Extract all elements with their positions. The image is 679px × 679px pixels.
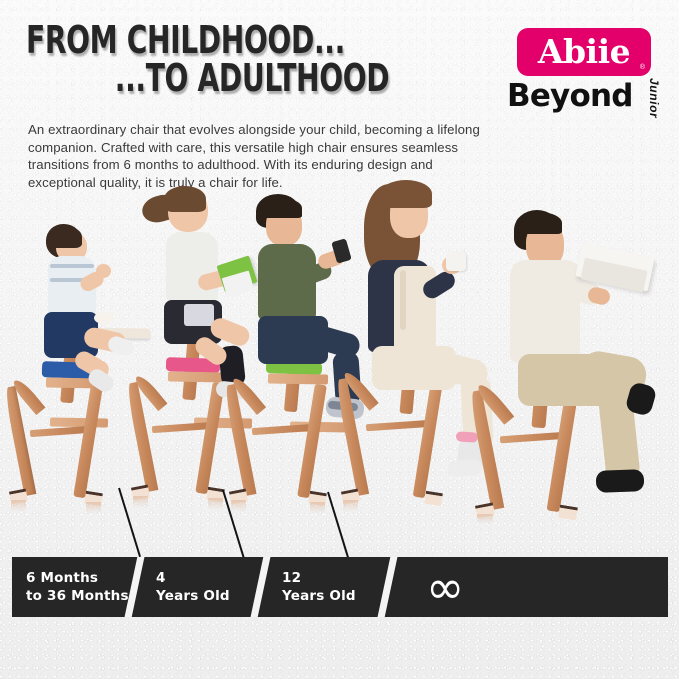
product-tier: Junior — [647, 78, 661, 118]
toddler-shirt-stripe — [50, 264, 94, 268]
chair-rung — [30, 426, 90, 437]
floor-reflection — [86, 502, 101, 514]
chair-back-leg — [73, 386, 102, 498]
chair-foot-back — [424, 491, 443, 506]
infinity-icon: ∞ — [426, 567, 606, 607]
girl-hair — [164, 186, 206, 212]
chair-progression-scene — [0, 190, 679, 520]
floor-reflection — [11, 500, 26, 512]
floor-reflection — [310, 502, 325, 514]
chair-rung — [252, 424, 314, 435]
headline-line-2: ...TO ADULTHOOD — [26, 60, 374, 96]
timeline-segment-3[interactable]: ∞ — [426, 557, 606, 617]
girl-shirt — [166, 232, 218, 302]
brand-logo: Abiie ® Beyond Junior — [499, 28, 667, 128]
headline-line-1: FROM CHILDHOOD... — [26, 22, 374, 58]
floor-reflection — [208, 498, 223, 510]
toddler-hand — [96, 264, 111, 278]
toddler-bowl — [94, 312, 114, 324]
chair-back-leg — [297, 384, 327, 498]
age-timeline-bar: 6 Months to 36 Months 4 Years Old 12 Yea… — [12, 557, 668, 617]
toddler-hair-top — [48, 226, 82, 248]
timeline-segment-2-line2: Years Old — [282, 587, 382, 605]
registered-trademark-icon: ® — [640, 64, 645, 71]
timeline-segment-2[interactable]: 12 Years Old — [282, 557, 382, 617]
boy-hair-top — [258, 198, 302, 218]
chair-back-leg — [195, 382, 224, 494]
man-shoe — [596, 469, 645, 493]
timeline-segment-1-line2: Years Old — [156, 587, 256, 605]
timeline-segment-0[interactable]: 6 Months to 36 Months — [26, 557, 136, 617]
chair-foot-back — [558, 505, 578, 521]
brand-name: Abiie — [538, 35, 630, 68]
floor-reflection — [477, 514, 493, 524]
floor-reflection — [343, 500, 358, 512]
timeline-segment-0-line2: to 36 Months — [26, 587, 136, 605]
headline: FROM CHILDHOOD... ...TO ADULTHOOD — [26, 22, 496, 97]
figure-group-toddler — [8, 190, 148, 510]
product-infographic-poster: FROM CHILDHOOD... ...TO ADULTHOOD An ext… — [0, 0, 679, 679]
timeline-segment-2-line1: 12 — [282, 569, 382, 587]
timeline-segment-1-line1: 4 — [156, 569, 256, 587]
chair-seat — [268, 373, 328, 384]
chair-back-leg — [413, 378, 444, 498]
man-hair-top — [516, 212, 562, 234]
timeline-segment-0-line1: 6 Months — [26, 569, 136, 587]
floor-reflection — [133, 496, 148, 508]
girl-skirt-pattern — [184, 304, 214, 326]
brand-badge: Abiie ® — [517, 28, 651, 76]
woman-mug — [446, 252, 466, 271]
figure-group-man — [470, 148, 670, 523]
timeline-segment-1[interactable]: 4 Years Old — [156, 557, 256, 617]
woman-hair-top — [380, 180, 432, 208]
chair-seat — [168, 371, 226, 382]
woman-overalls-strap — [400, 270, 406, 330]
floor-reflection — [231, 500, 246, 512]
product-name: Beyond — [507, 80, 633, 113]
chair-back-leg — [547, 390, 579, 513]
